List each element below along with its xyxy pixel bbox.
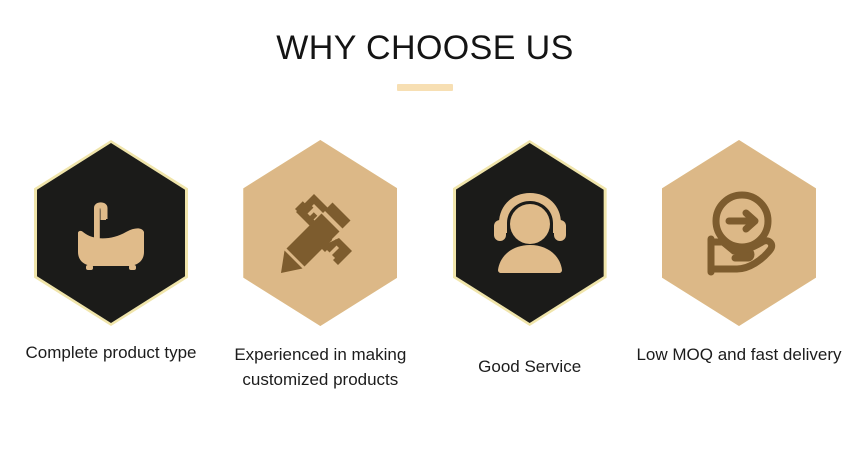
feature-label: Low MOQ and fast delivery: [636, 342, 842, 367]
feature-label: Complete product type: [8, 340, 214, 365]
feature-card-complete-product-type[interactable]: Complete product type: [8, 140, 214, 365]
section-header: WHY CHOOSE US: [0, 26, 850, 91]
feature-cards-row: Complete product type: [0, 140, 850, 410]
feature-card-experienced-customized[interactable]: Experienced in making customized product…: [217, 140, 423, 392]
hexagon-badge: [243, 140, 397, 326]
pencil-ruler-icon: [243, 140, 397, 326]
page-title: WHY CHOOSE US: [0, 26, 850, 70]
feature-label: Good Service: [427, 354, 633, 379]
headset-agent-icon: [453, 140, 607, 326]
bathtub-icon: [34, 140, 188, 326]
why-choose-us-section: WHY CHOOSE US: [0, 0, 850, 450]
hexagon-badge: [453, 140, 607, 326]
hexagon-badge: [662, 140, 816, 326]
hexagon-badge: [34, 140, 188, 326]
title-divider: [397, 84, 453, 91]
feature-card-low-moq-fast-delivery[interactable]: Low MOQ and fast delivery: [636, 140, 842, 367]
hand-arrow-delivery-icon: [662, 140, 816, 326]
feature-label: Experienced in making customized product…: [217, 342, 423, 392]
feature-card-good-service[interactable]: Good Service: [427, 140, 633, 379]
